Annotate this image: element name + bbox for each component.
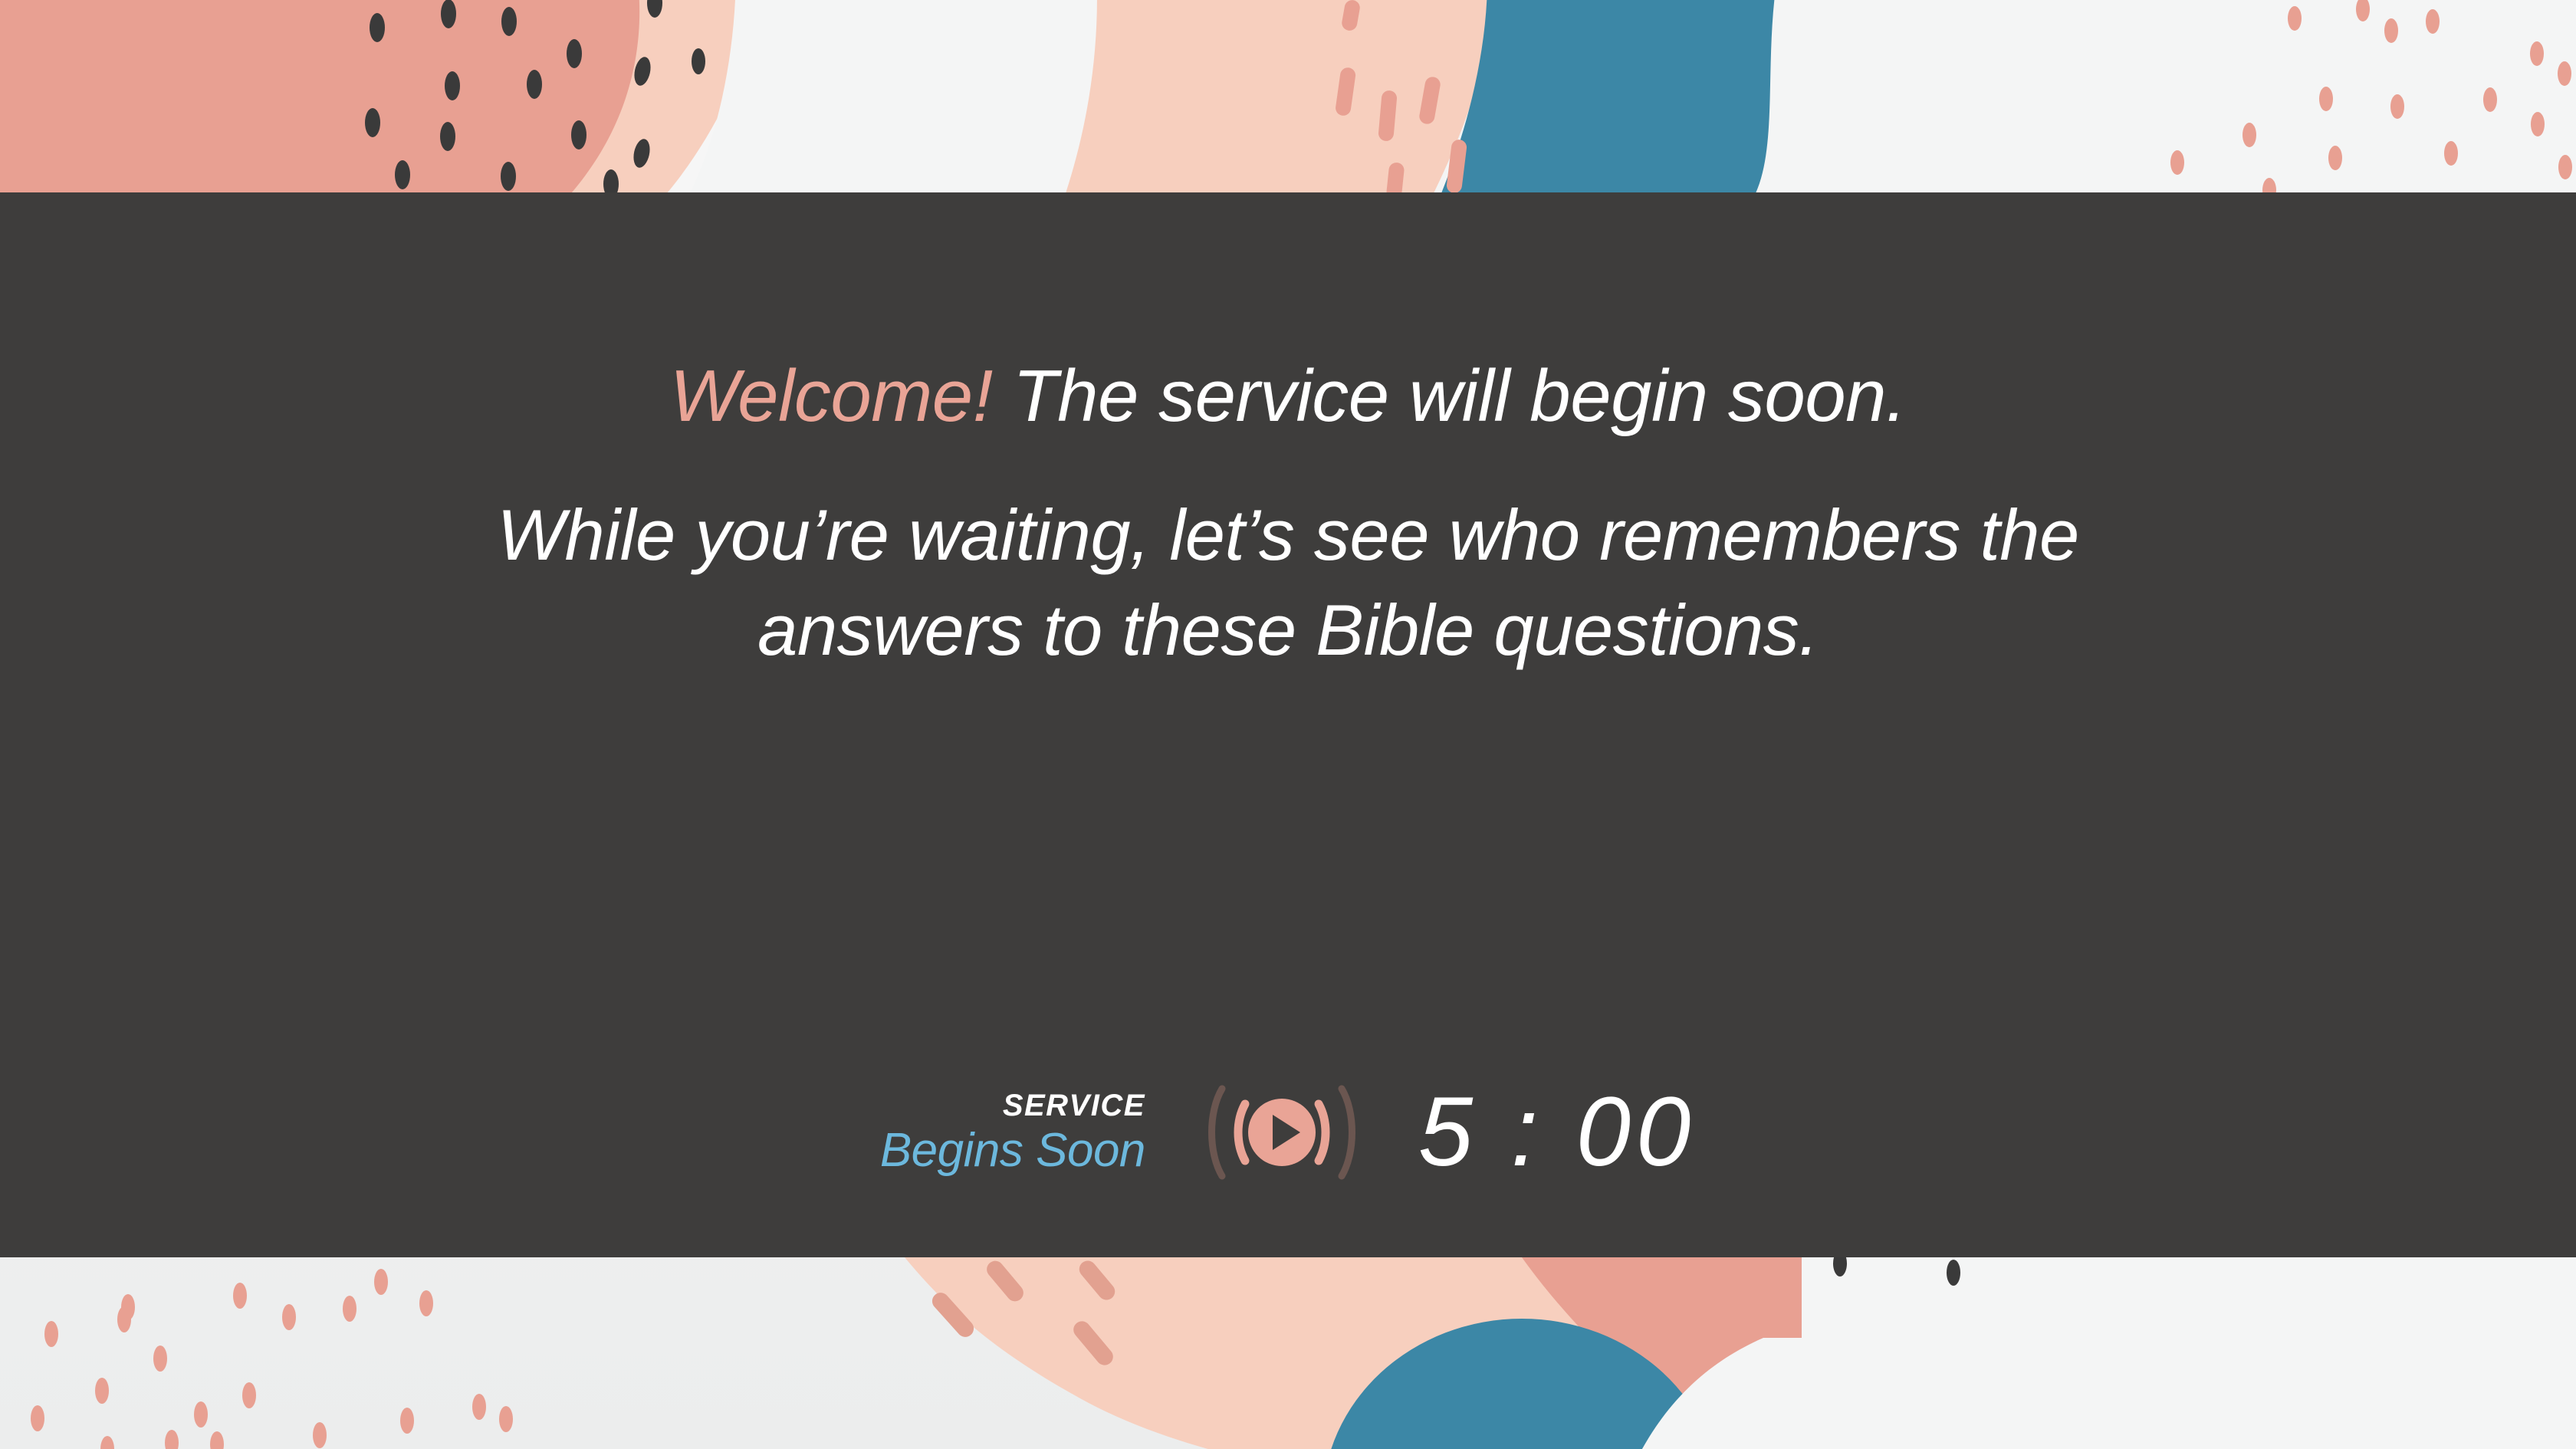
body-paragraph: While you’re waiting, let’s see who reme… [452, 488, 2124, 678]
countdown-strip: SERVICE Begins Soon 5 : 00 [0, 1075, 2576, 1190]
art-shape-white-bottomright [1802, 1257, 2576, 1449]
headline-highlight: Welcome! [670, 355, 993, 437]
headline: Welcome! The service will begin soon. [399, 357, 2177, 435]
art-top-shapes [0, 0, 2576, 202]
slide-stage: Welcome! The service will begin soon. Wh… [0, 0, 2576, 1449]
countdown-label-group: SERVICE Begins Soon [880, 1090, 1145, 1175]
art-shape-coral-left [0, 0, 675, 193]
message-block: Welcome! The service will begin soon. Wh… [399, 357, 2177, 750]
countdown-eyebrow: SERVICE [880, 1090, 1145, 1121]
live-broadcast-icon [1202, 1075, 1362, 1190]
headline-rest: The service will begin soon. [993, 355, 1906, 437]
content-overlay-panel: Welcome! The service will begin soon. Wh… [0, 192, 2576, 1257]
countdown-status: Begins Soon [880, 1127, 1145, 1175]
countdown-timer: 5 : 00 [1418, 1083, 1696, 1181]
